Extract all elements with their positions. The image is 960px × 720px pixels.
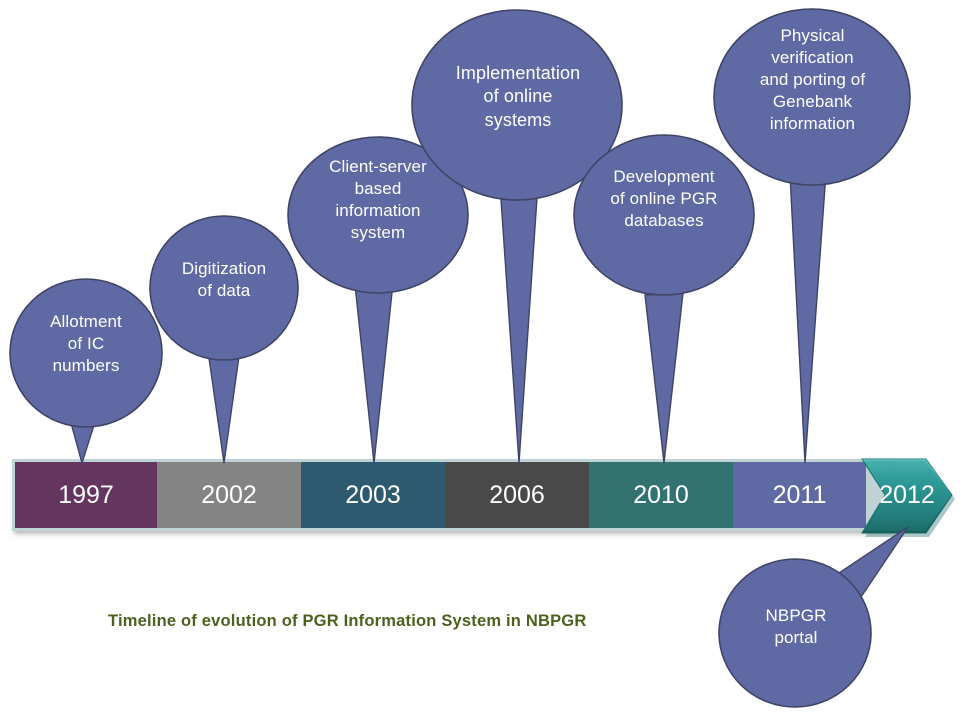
callout-bubble-1997[interactable] [10, 279, 162, 427]
callout-bubble-2011[interactable] [714, 9, 910, 185]
callout-2010[interactable] [574, 135, 754, 463]
timeline-segment-2002[interactable] [157, 462, 301, 528]
diagram-caption: Timeline of evolution of PGR Information… [108, 612, 586, 631]
timeline-segment-2003[interactable] [301, 462, 445, 528]
timeline-segment-1997[interactable] [15, 462, 157, 528]
callout-bubble-2012[interactable] [719, 559, 871, 707]
callout-2012[interactable] [719, 527, 908, 707]
callout-bubble-2010[interactable] [574, 135, 754, 295]
timeline-diagram: Allotment of IC numbers Digitization of … [0, 0, 960, 720]
callout-2003[interactable] [288, 137, 468, 463]
callout-1997[interactable] [10, 279, 162, 463]
timeline-segment-2011[interactable] [733, 462, 866, 528]
callout-bubble-2002[interactable] [150, 216, 298, 360]
timeline-segment-2010[interactable] [589, 462, 733, 528]
timeline-segment-2006[interactable] [445, 462, 589, 528]
callout-2002[interactable] [150, 216, 298, 463]
timeline-bar [12, 459, 892, 531]
